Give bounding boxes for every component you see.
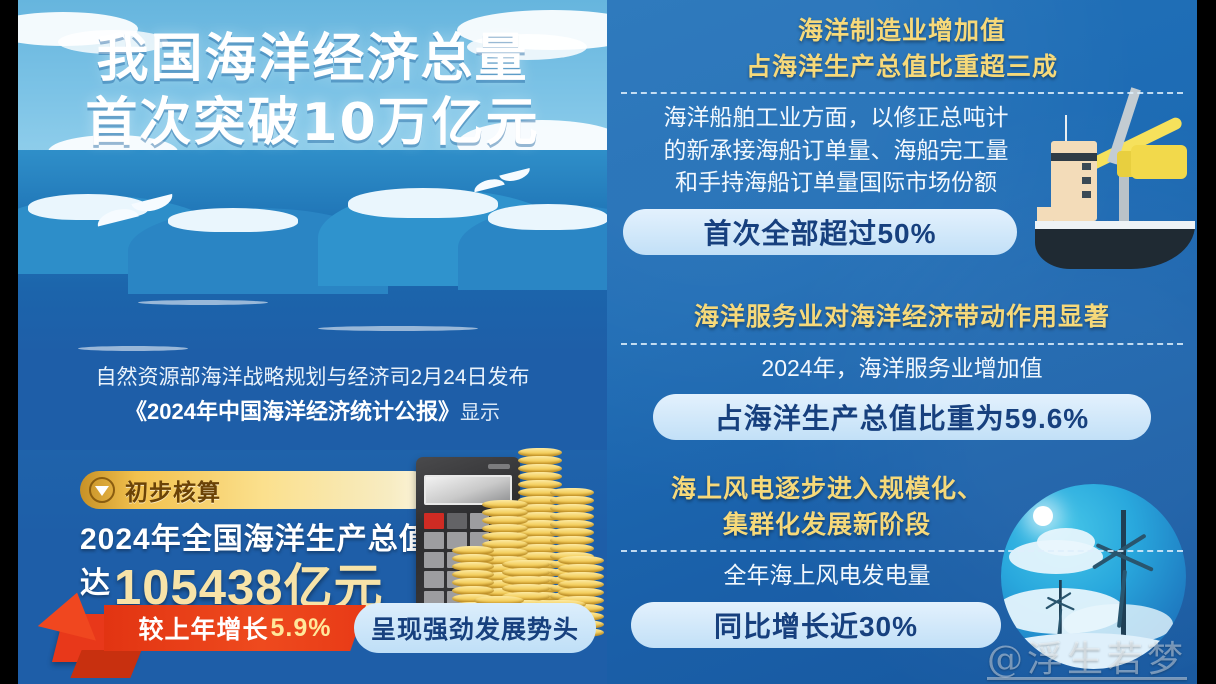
section1-title-line-2: 占海洋生产总值比重超三成 [607,50,1197,86]
section1-body-line-1: 海洋船舶工业方面，以修正总吨计 [621,101,1051,134]
source-line-2: 《2024年中国海洋经济统计公报》显示 [18,395,607,429]
section1-highlight-pill: 首次全部超过50% [623,209,1017,255]
section-ocean-services: 海洋服务业对海洋经济带动作用显著 2024年，海洋服务业增加值 占海洋生产总值比… [607,300,1197,440]
sun-icon [1033,506,1053,526]
section2-body: 2024年，海洋服务业增加值 [607,352,1197,385]
report-title: 《2024年中国海洋经济统计公报》 [125,399,460,424]
wave-crest [488,204,607,230]
right-panel: 海洋制造业增加值 占海洋生产总值比重超三成 海洋船舶工业方面，以修正总吨计 的新… [607,0,1197,684]
gold-banner-label: 初步核算 [125,473,221,507]
section3-title-line-2: 集群化发展新阶段 [627,508,1027,544]
section-offshore-wind: 海上风电逐步进入规模化、 集群化发展新阶段 全年海上风电发电量 同比增长近30% [607,472,1197,648]
section2-divider [621,343,1183,345]
section2-title-line-1: 海洋服务业对海洋经济带动作用显著 [607,300,1197,336]
source-attribution: 自然资源部海洋战略规划与经济司2月24日发布 《2024年中国海洋经济统计公报》… [18,362,607,429]
section2-title: 海洋服务业对海洋经济带动作用显著 [607,300,1197,336]
section1-title: 海洋制造业增加值 占海洋生产总值比重超三成 [607,14,1197,85]
preliminary-accounting-banner: 初步核算 [80,471,432,509]
section2-highlight-pill: 占海洋生产总值比重为59.6% [653,394,1151,440]
sea-foam [138,300,268,305]
section1-title-line-1: 海洋制造业增加值 [607,14,1197,50]
section3-title: 海上风电逐步进入规模化、 集群化发展新阶段 [627,472,1027,543]
section3-title-line-1: 海上风电逐步进入规模化、 [627,472,1027,508]
watermark: @浮生若梦 [987,630,1187,682]
triangle-down-icon [89,477,115,503]
infographic-canvas: 我国海洋经济总量 首次突破10万亿元 自然资源部海洋战略规划与经济司2月24日发… [0,0,1216,684]
source-line-1: 自然资源部海洋战略规划与经济司2月24日发布 [18,362,607,395]
section3-body-line-1: 全年海上风电发电量 [627,559,1027,592]
headline-line-1: 我国海洋经济总量 [18,28,607,92]
momentum-badge: 呈现强劲发展势头 [354,603,596,653]
section3-divider [621,550,1183,552]
section3-highlight-pill: 同比增长近30% [631,602,1001,648]
ocean-illustration [18,150,607,355]
section3-body: 全年海上风电发电量 [627,559,1027,592]
left-panel: 我国海洋经济总量 首次突破10万亿元 自然资源部海洋战略规划与经济司2月24日发… [18,0,607,684]
sea-foam [78,346,188,351]
section1-divider [621,92,1183,94]
growth-badge-text: 较上年增长 [139,610,269,646]
wave-crest [348,188,498,218]
section1-body-line-3: 和手持海船订单量国际市场份额 [621,166,1051,199]
section1-body-line-2: 的新承接海船订单量、海船完工量 [621,134,1051,167]
section-ocean-manufacturing: 海洋制造业增加值 占海洋生产总值比重超三成 海洋船舶工业方面，以修正总吨计 的新… [607,14,1197,255]
growth-badge-value: 5.9% [271,614,332,643]
growth-badge: 较上年增长5.9% [104,605,366,651]
section2-body-line-1: 2024年，海洋服务业增加值 [607,352,1197,385]
section1-body: 海洋船舶工业方面，以修正总吨计 的新承接海船订单量、海船完工量 和手持海船订单量… [621,101,1051,199]
headline-line-2: 首次突破10万亿元 [18,92,607,156]
sea-foam [318,326,478,331]
report-suffix: 显示 [460,402,500,424]
main-headline: 我国海洋经济总量 首次突破10万亿元 [18,28,607,156]
wave-crest [168,208,298,232]
